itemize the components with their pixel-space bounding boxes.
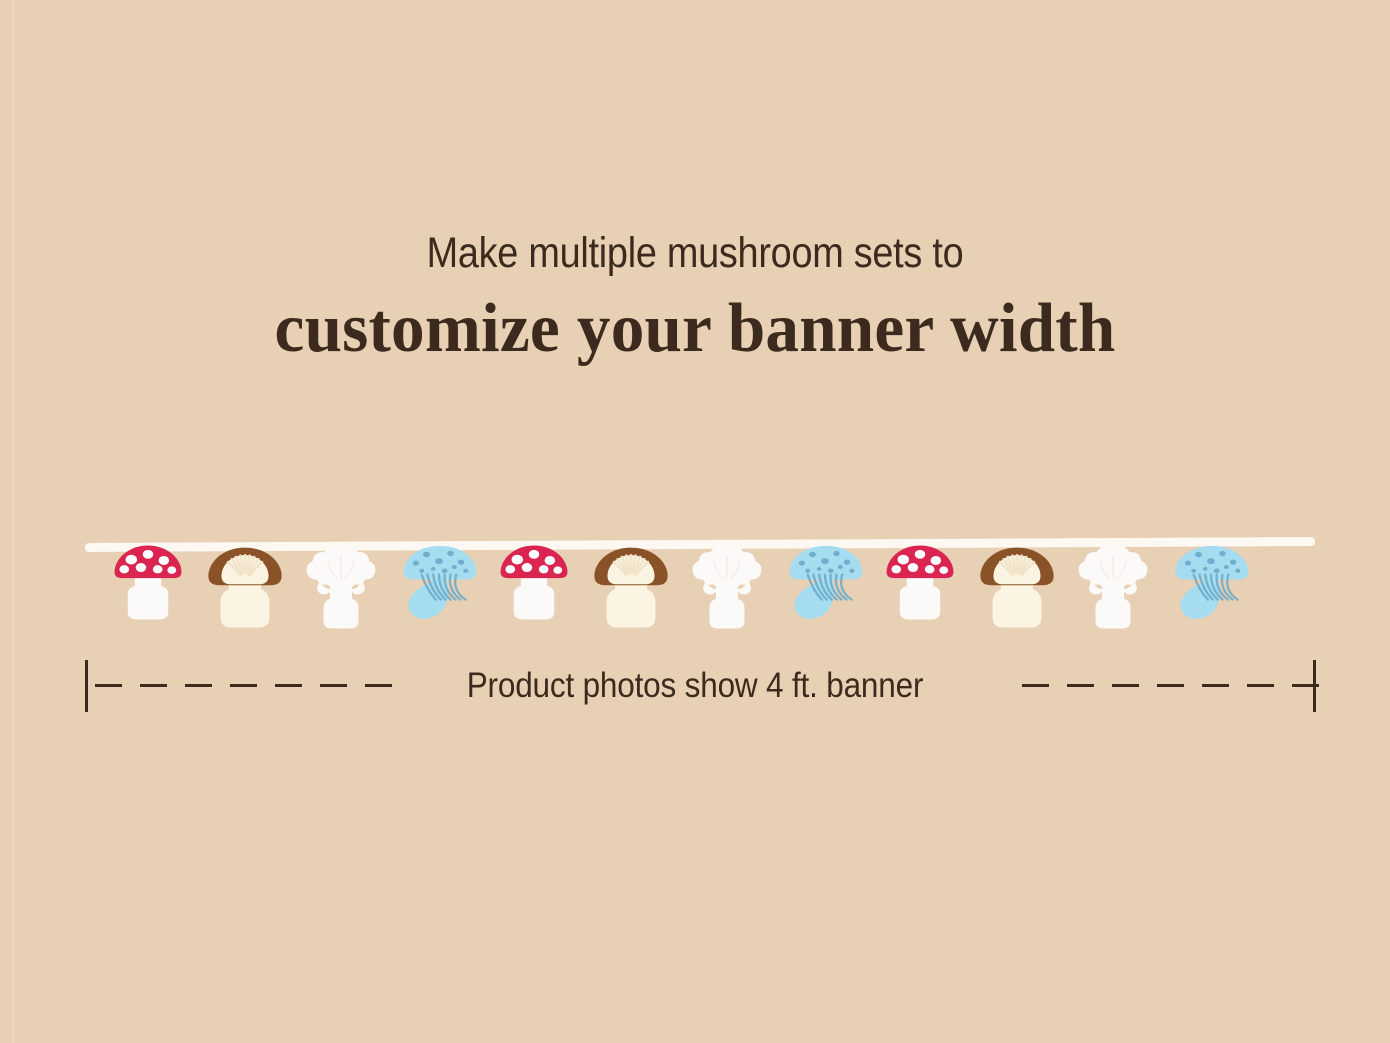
red-spotted-mushroom (494, 542, 573, 630)
white-cluster-mushroom (686, 542, 769, 634)
brown-cap-mushroom (974, 542, 1059, 636)
blue-speckled-mushroom (780, 542, 866, 638)
brown-cap-mushroom (202, 542, 287, 636)
blue-speckled-mushroom (394, 542, 480, 638)
subtitle-text: Make multiple mushroom sets to (83, 232, 1306, 276)
red-spotted-mushroom (108, 542, 187, 630)
white-cluster-mushroom (300, 542, 383, 634)
headline-block: Make multiple mushroom sets to customize… (0, 232, 1390, 364)
mushroom-banner (0, 520, 1390, 650)
brown-cap-mushroom (588, 542, 673, 636)
blue-speckled-mushroom (1166, 542, 1252, 638)
red-spotted-mushroom (880, 542, 959, 630)
white-cluster-mushroom (1072, 542, 1155, 634)
measurement-caption: Product photos show 4 ft. banner (70, 666, 1321, 706)
headline-text: customize your banner width (28, 294, 1362, 364)
poster-canvas: Make multiple mushroom sets to customize… (0, 0, 1390, 1043)
measurement-rule: Product photos show 4 ft. banner (0, 660, 1390, 722)
